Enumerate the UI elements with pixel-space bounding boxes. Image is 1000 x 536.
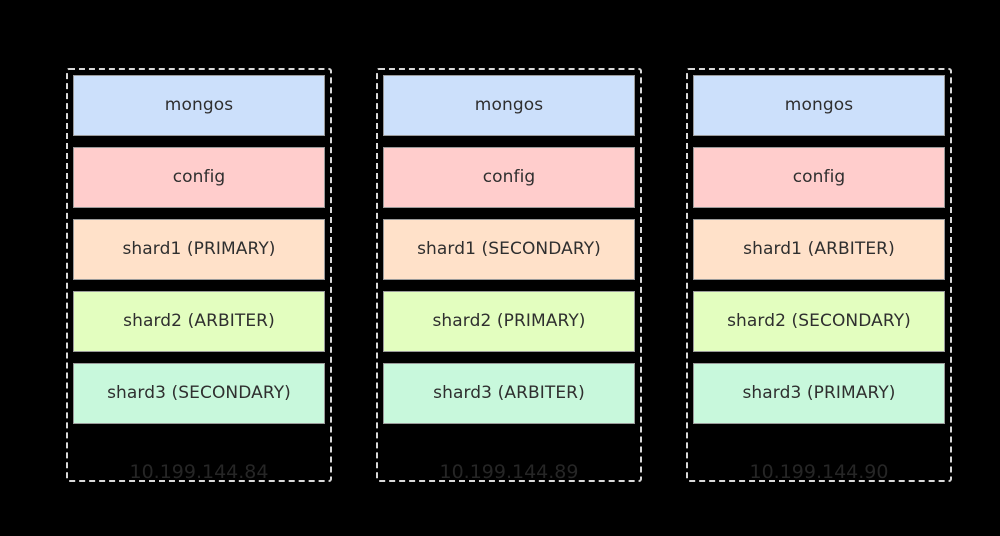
service-label: config [173, 169, 226, 186]
service-label: shard1 (ARBITER) [743, 241, 895, 258]
cluster-node: mongosconfigshard1 (ARBITER)shard2 (SECO… [686, 68, 952, 482]
node-service-list: mongosconfigshard1 (ARBITER)shard2 (SECO… [693, 75, 945, 424]
node-service-list: mongosconfigshard1 (SECONDARY)shard2 (PR… [383, 75, 635, 424]
service-label: shard3 (ARBITER) [433, 385, 585, 402]
node-ip-label: 10.199.144.84 [68, 463, 330, 482]
service-box-shard1[interactable]: shard1 (SECONDARY) [383, 219, 635, 280]
service-box-config[interactable]: config [383, 147, 635, 208]
service-box-shard3[interactable]: shard3 (PRIMARY) [693, 363, 945, 424]
service-label: shard1 (PRIMARY) [122, 241, 275, 258]
service-box-shard3[interactable]: shard3 (SECONDARY) [73, 363, 325, 424]
service-label: shard2 (ARBITER) [123, 313, 275, 330]
service-label: config [483, 169, 536, 186]
node-service-list: mongosconfigshard1 (PRIMARY)shard2 (ARBI… [73, 75, 325, 424]
service-box-shard2[interactable]: shard2 (ARBITER) [73, 291, 325, 352]
service-label: mongos [475, 97, 543, 114]
service-box-shard1[interactable]: shard1 (ARBITER) [693, 219, 945, 280]
service-box-shard1[interactable]: shard1 (PRIMARY) [73, 219, 325, 280]
service-box-mongos[interactable]: mongos [73, 75, 325, 136]
service-label: shard3 (PRIMARY) [742, 385, 895, 402]
service-label: config [793, 169, 846, 186]
service-label: shard2 (PRIMARY) [432, 313, 585, 330]
cluster-node: mongosconfigshard1 (SECONDARY)shard2 (PR… [376, 68, 642, 482]
service-label: shard2 (SECONDARY) [727, 313, 911, 330]
node-ip-label: 10.199.144.90 [688, 463, 950, 482]
service-box-mongos[interactable]: mongos [383, 75, 635, 136]
service-label: shard3 (SECONDARY) [107, 385, 291, 402]
service-box-shard2[interactable]: shard2 (PRIMARY) [383, 291, 635, 352]
service-box-shard3[interactable]: shard3 (ARBITER) [383, 363, 635, 424]
service-box-config[interactable]: config [693, 147, 945, 208]
service-label: mongos [165, 97, 233, 114]
service-box-shard2[interactable]: shard2 (SECONDARY) [693, 291, 945, 352]
service-box-config[interactable]: config [73, 147, 325, 208]
cluster-diagram: mongosconfigshard1 (PRIMARY)shard2 (ARBI… [0, 0, 1000, 536]
service-label: mongos [785, 97, 853, 114]
cluster-node: mongosconfigshard1 (PRIMARY)shard2 (ARBI… [66, 68, 332, 482]
node-ip-label: 10.199.144.89 [378, 463, 640, 482]
service-label: shard1 (SECONDARY) [417, 241, 601, 258]
service-box-mongos[interactable]: mongos [693, 75, 945, 136]
